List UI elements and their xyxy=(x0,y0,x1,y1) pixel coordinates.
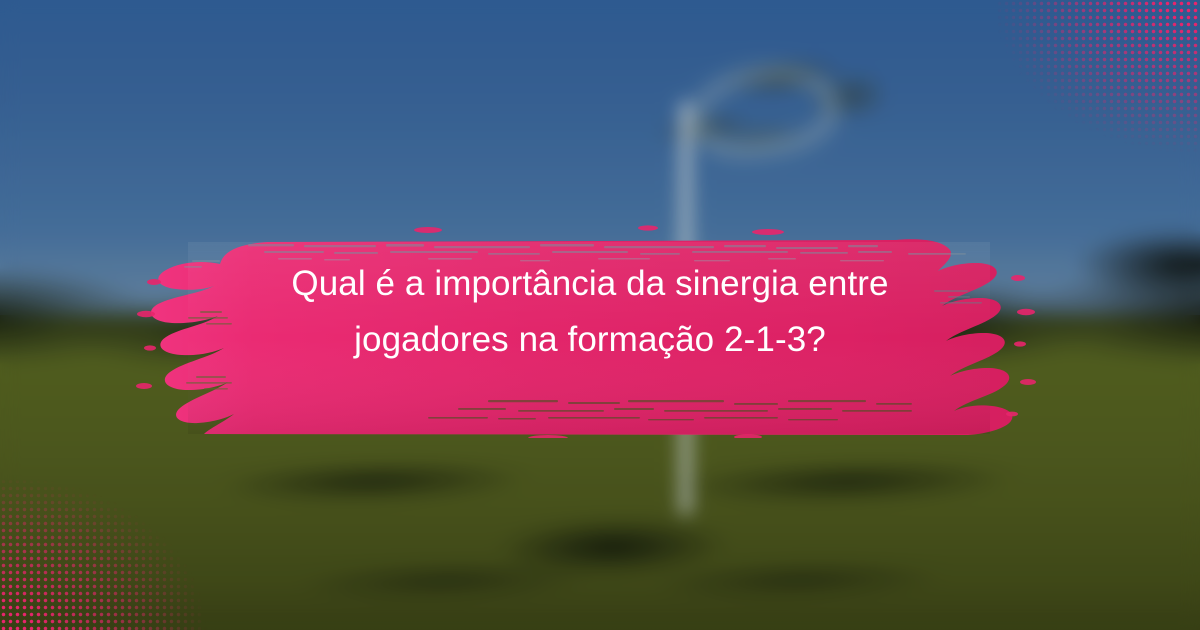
quote-line-2: jogadores na formação 2-1-3? xyxy=(354,318,826,362)
quote-line-1: Qual é a importância da sinergia entre xyxy=(291,262,888,306)
quote-text-block: Qual é a importância da sinergia entre j… xyxy=(150,196,1030,428)
quote-card: Qual é a importância da sinergia entre j… xyxy=(0,0,1200,630)
